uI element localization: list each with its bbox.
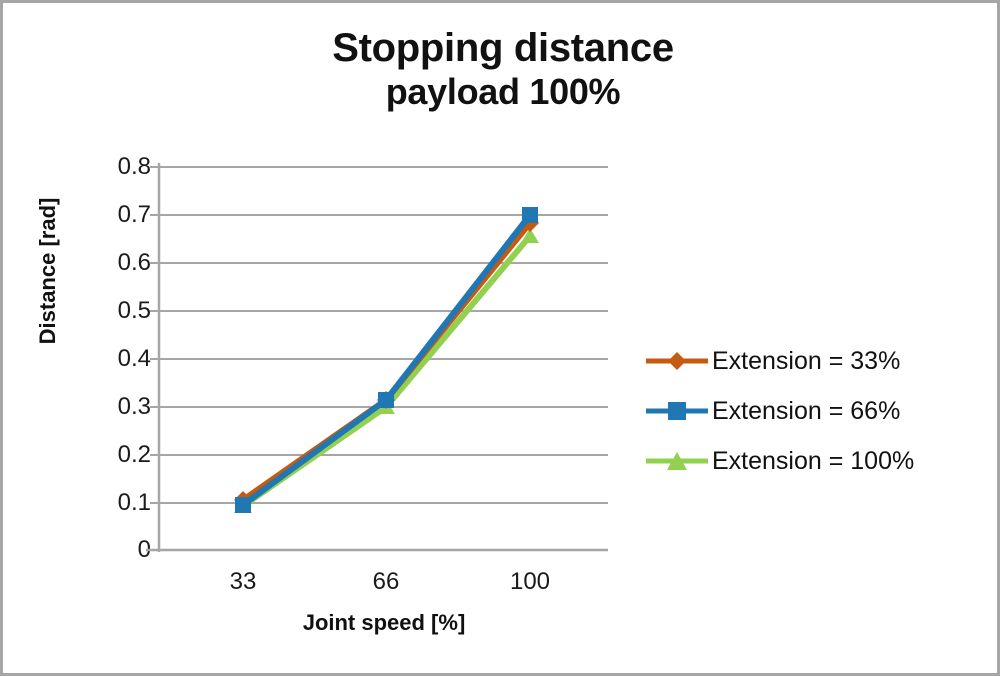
legend-marker-square-icon bbox=[646, 396, 708, 426]
chart-legend: Extension = 33% Extension = 66% Extensio… bbox=[646, 336, 991, 486]
data-point-marker bbox=[378, 392, 394, 408]
legend-item-extension-33: Extension = 33% bbox=[646, 336, 991, 386]
x-axis-title: Joint speed [%] bbox=[159, 610, 609, 636]
y-axis-ticks bbox=[150, 167, 159, 550]
legend-marker-triangle-icon bbox=[646, 446, 708, 476]
gridlines bbox=[159, 167, 608, 503]
legend-label: Extension = 100% bbox=[708, 447, 914, 476]
x-tick-label: 100 bbox=[485, 568, 575, 596]
data-point-marker bbox=[522, 207, 538, 223]
chart-image: Stopping distance payload 100% Distance … bbox=[0, 0, 1000, 676]
legend-label: Extension = 66% bbox=[708, 397, 900, 426]
x-tick-label: 33 bbox=[198, 568, 288, 596]
legend-item-extension-66: Extension = 66% bbox=[646, 386, 991, 436]
data-point-marker bbox=[235, 497, 251, 513]
legend-label: Extension = 33% bbox=[708, 347, 900, 376]
legend-item-extension-100: Extension = 100% bbox=[646, 436, 991, 486]
x-tick-label: 66 bbox=[341, 568, 431, 596]
legend-marker-diamond-icon bbox=[646, 346, 708, 376]
